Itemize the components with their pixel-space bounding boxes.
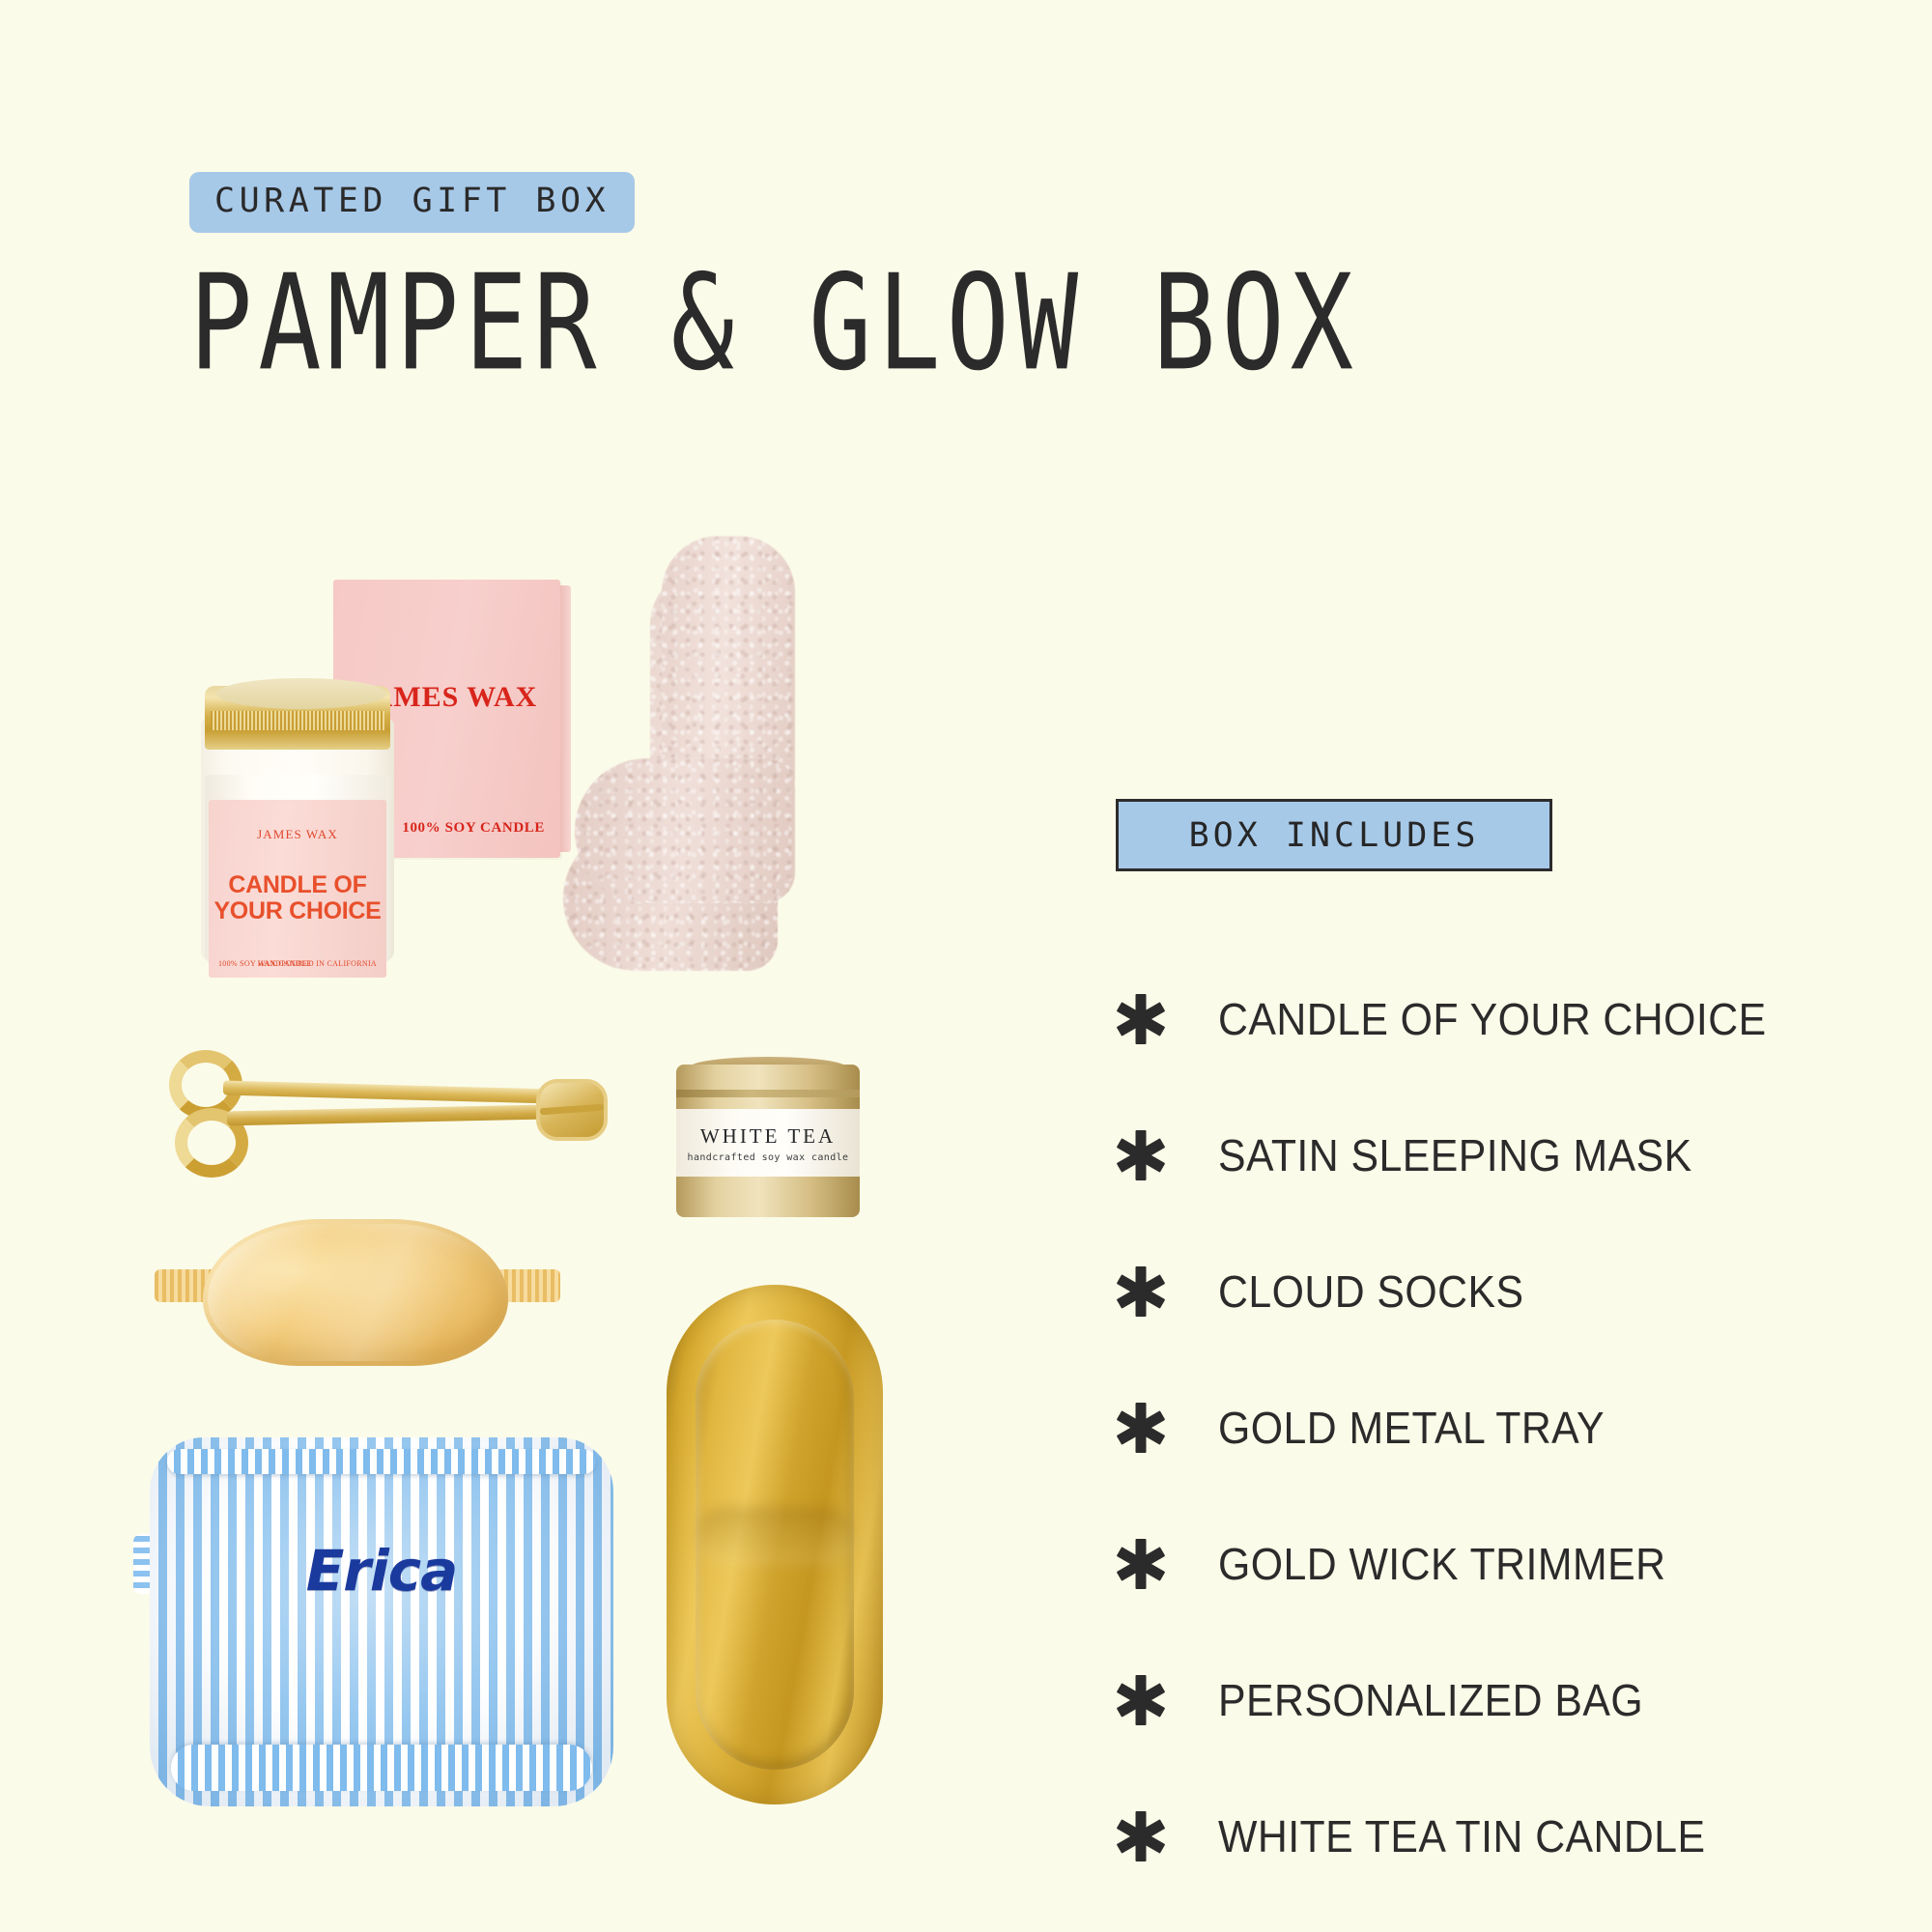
asterisk-icon [1116,1130,1166,1180]
include-bullet-wrap [1116,1266,1218,1317]
asterisk-icon [1116,994,1166,1044]
asterisk-icon [1116,1675,1166,1725]
jar-lid-knurling [211,711,384,730]
include-item-label: WHITE TEA TIN CANDLE [1218,1810,1706,1862]
asterisk-icon [1116,1403,1166,1453]
include-item: PERSONALIZED BAG [1116,1654,1831,1747]
mask-body [203,1219,508,1366]
tin-subtitle-text: handcrafted soy wax candle [676,1152,860,1163]
include-item: GOLD WICK TRIMMER [1116,1518,1831,1610]
bag-embroidered-name: Erica [150,1538,613,1604]
include-item-label: PERSONALIZED BAG [1218,1674,1643,1726]
include-item: CLOUD SOCKS [1116,1245,1831,1338]
tin-rim [676,1090,860,1097]
include-bullet-wrap [1116,1539,1218,1589]
candle-jar-image: JAMES WAX CANDLE OF YOUR CHOICE 100% SOY… [201,676,394,962]
gold-wick-trimmer-image [169,1048,633,1183]
include-item-label: CANDLE OF YOUR CHOICE [1218,993,1767,1045]
jar-main-text: CANDLE OF YOUR CHOICE [209,872,386,923]
include-bullet-wrap [1116,1130,1218,1180]
tray-sheen [696,1507,854,1565]
white-tea-tin-image: WHITE TEA handcrafted soy wax candle [676,1063,860,1219]
box-includes-list: CANDLE OF YOUR CHOICESATIN SLEEPING MASK… [1116,973,1831,1883]
tin-body: WHITE TEA handcrafted soy wax candle [676,1065,860,1217]
satin-sleeping-mask-image [155,1219,560,1374]
include-bullet-wrap [1116,1811,1218,1861]
product-collage: JAMES WAX 100% SOY CANDLE JAMES WAX CAND… [0,0,1063,1932]
jar-label: JAMES WAX CANDLE OF YOUR CHOICE 100% SOY… [209,800,386,978]
include-item-label: SATIN SLEEPING MASK [1218,1129,1692,1181]
jar-brand-text: JAMES WAX [209,827,386,842]
box-includes-header: BOX INCLUDES [1116,799,1552,871]
include-bullet-wrap [1116,994,1218,1044]
jar-lid-top-surface [216,678,386,709]
sock-front-foot [575,758,795,903]
include-item: WHITE TEA TIN CANDLE [1116,1790,1831,1883]
include-item-label: GOLD WICK TRIMMER [1218,1538,1665,1590]
jar-main-line-1: CANDLE OF [228,871,366,898]
asterisk-icon [1116,1266,1166,1317]
include-bullet-wrap [1116,1675,1218,1725]
jar-glass: JAMES WAX CANDLE OF YOUR CHOICE 100% SOY… [201,719,394,962]
candle-box-subtext: 100% SOY CANDLE [402,820,545,837]
jar-gold-lid [205,686,390,750]
gold-metal-tray-image [667,1285,883,1804]
bag-piping-bottom [171,1745,592,1791]
jar-footer-right-text: HANDPOURED IN CALIFORNIA [258,959,377,968]
jar-main-line-2: YOUR CHOICE [213,897,381,924]
include-item-label: GOLD METAL TRAY [1218,1402,1605,1454]
trimmer-arm-lower [227,1105,546,1126]
include-item-label: CLOUD SOCKS [1218,1265,1524,1318]
asterisk-icon [1116,1811,1166,1861]
include-item: CANDLE OF YOUR CHOICE [1116,973,1831,1065]
include-bullet-wrap [1116,1403,1218,1453]
trimmer-arm-upper [223,1081,552,1104]
box-includes-panel: BOX INCLUDES CANDLE OF YOUR CHOICESATIN … [1116,799,1831,1926]
asterisk-icon [1116,1539,1166,1589]
personalized-bag-image: Erica [150,1437,613,1806]
include-item: GOLD METAL TRAY [1116,1381,1831,1474]
bag-piping-top [167,1449,596,1474]
include-item: SATIN SLEEPING MASK [1116,1109,1831,1202]
tin-title-text: WHITE TEA [676,1124,860,1149]
cloud-socks-image [546,536,816,1019]
sock-texture [575,758,795,903]
tin-label: WHITE TEA handcrafted soy wax candle [676,1109,860,1177]
